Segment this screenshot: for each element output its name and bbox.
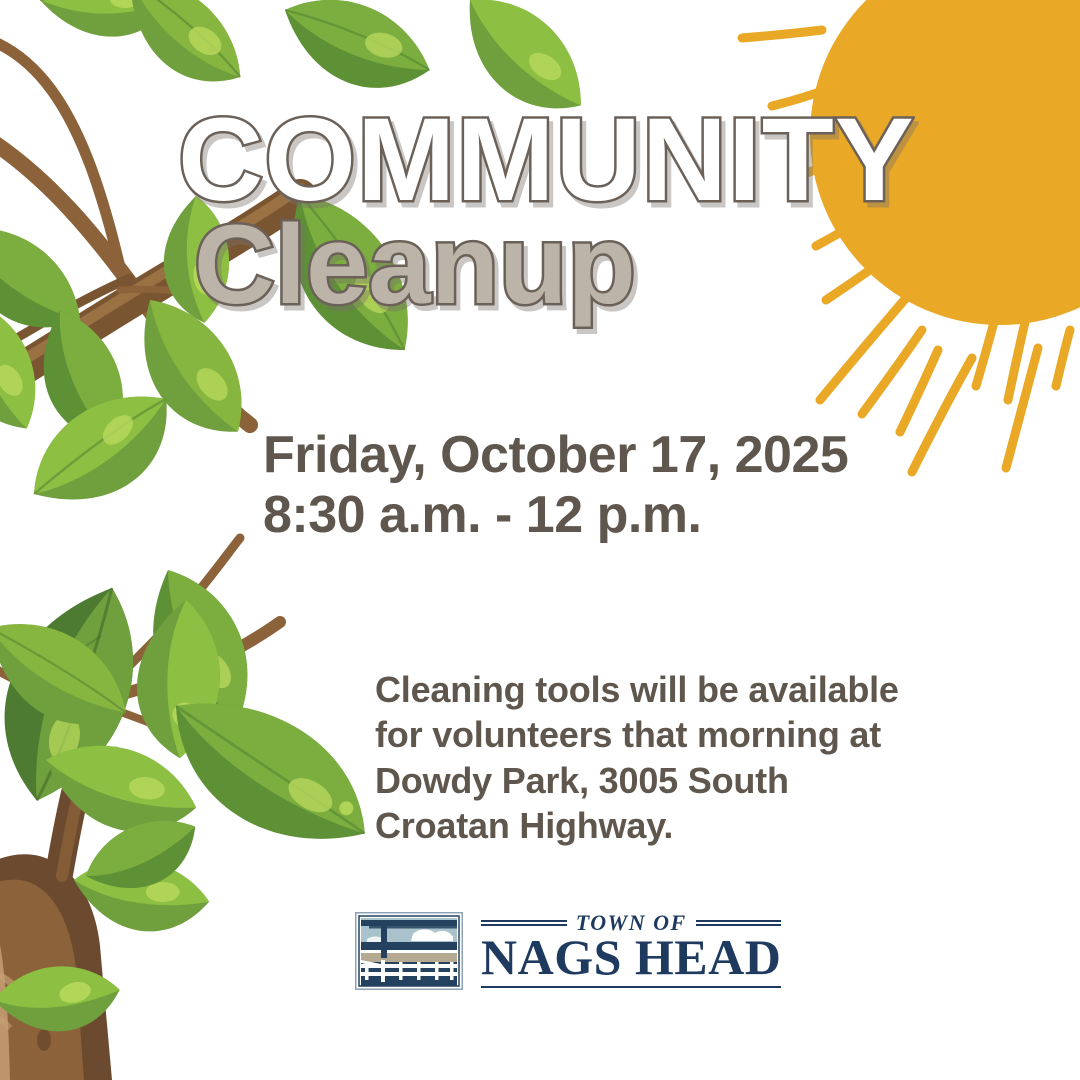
title-cleanup: Cleanup [194,211,915,319]
headline-block: COMMUNITY Cleanup [178,104,915,319]
tree-trunk [0,538,280,1080]
event-details-block: Cleaning tools will be available for vol… [375,667,899,848]
details-line-2: for volunteers that morning at [375,712,899,757]
details-line-1: Cleaning tools will be available [375,667,899,712]
title-community: COMMUNITY [178,104,915,217]
logo-wordmark: TOWN OF NAGS HEAD [481,915,781,988]
event-datetime-block: Friday, October 17, 2025 8:30 a.m. - 12 … [263,425,848,546]
logo-rule-right [696,920,782,926]
logo-baseline-rule [481,986,781,988]
pier-beach-scene-icon [355,912,463,990]
logo-name-text: NAGS HEAD [481,932,781,983]
event-date: Friday, October 17, 2025 [263,425,848,485]
details-line-4: Croatan Highway. [375,803,899,848]
town-of-nags-head-logo: TOWN OF NAGS HEAD [355,912,781,990]
details-line-3: Dowdy Park, 3005 South [375,758,899,803]
logo-rule-left [481,920,567,926]
flyer-canvas: COMMUNITY Cleanup Friday, October 17, 20… [0,0,1080,1080]
event-time: 8:30 a.m. - 12 p.m. [263,485,848,545]
